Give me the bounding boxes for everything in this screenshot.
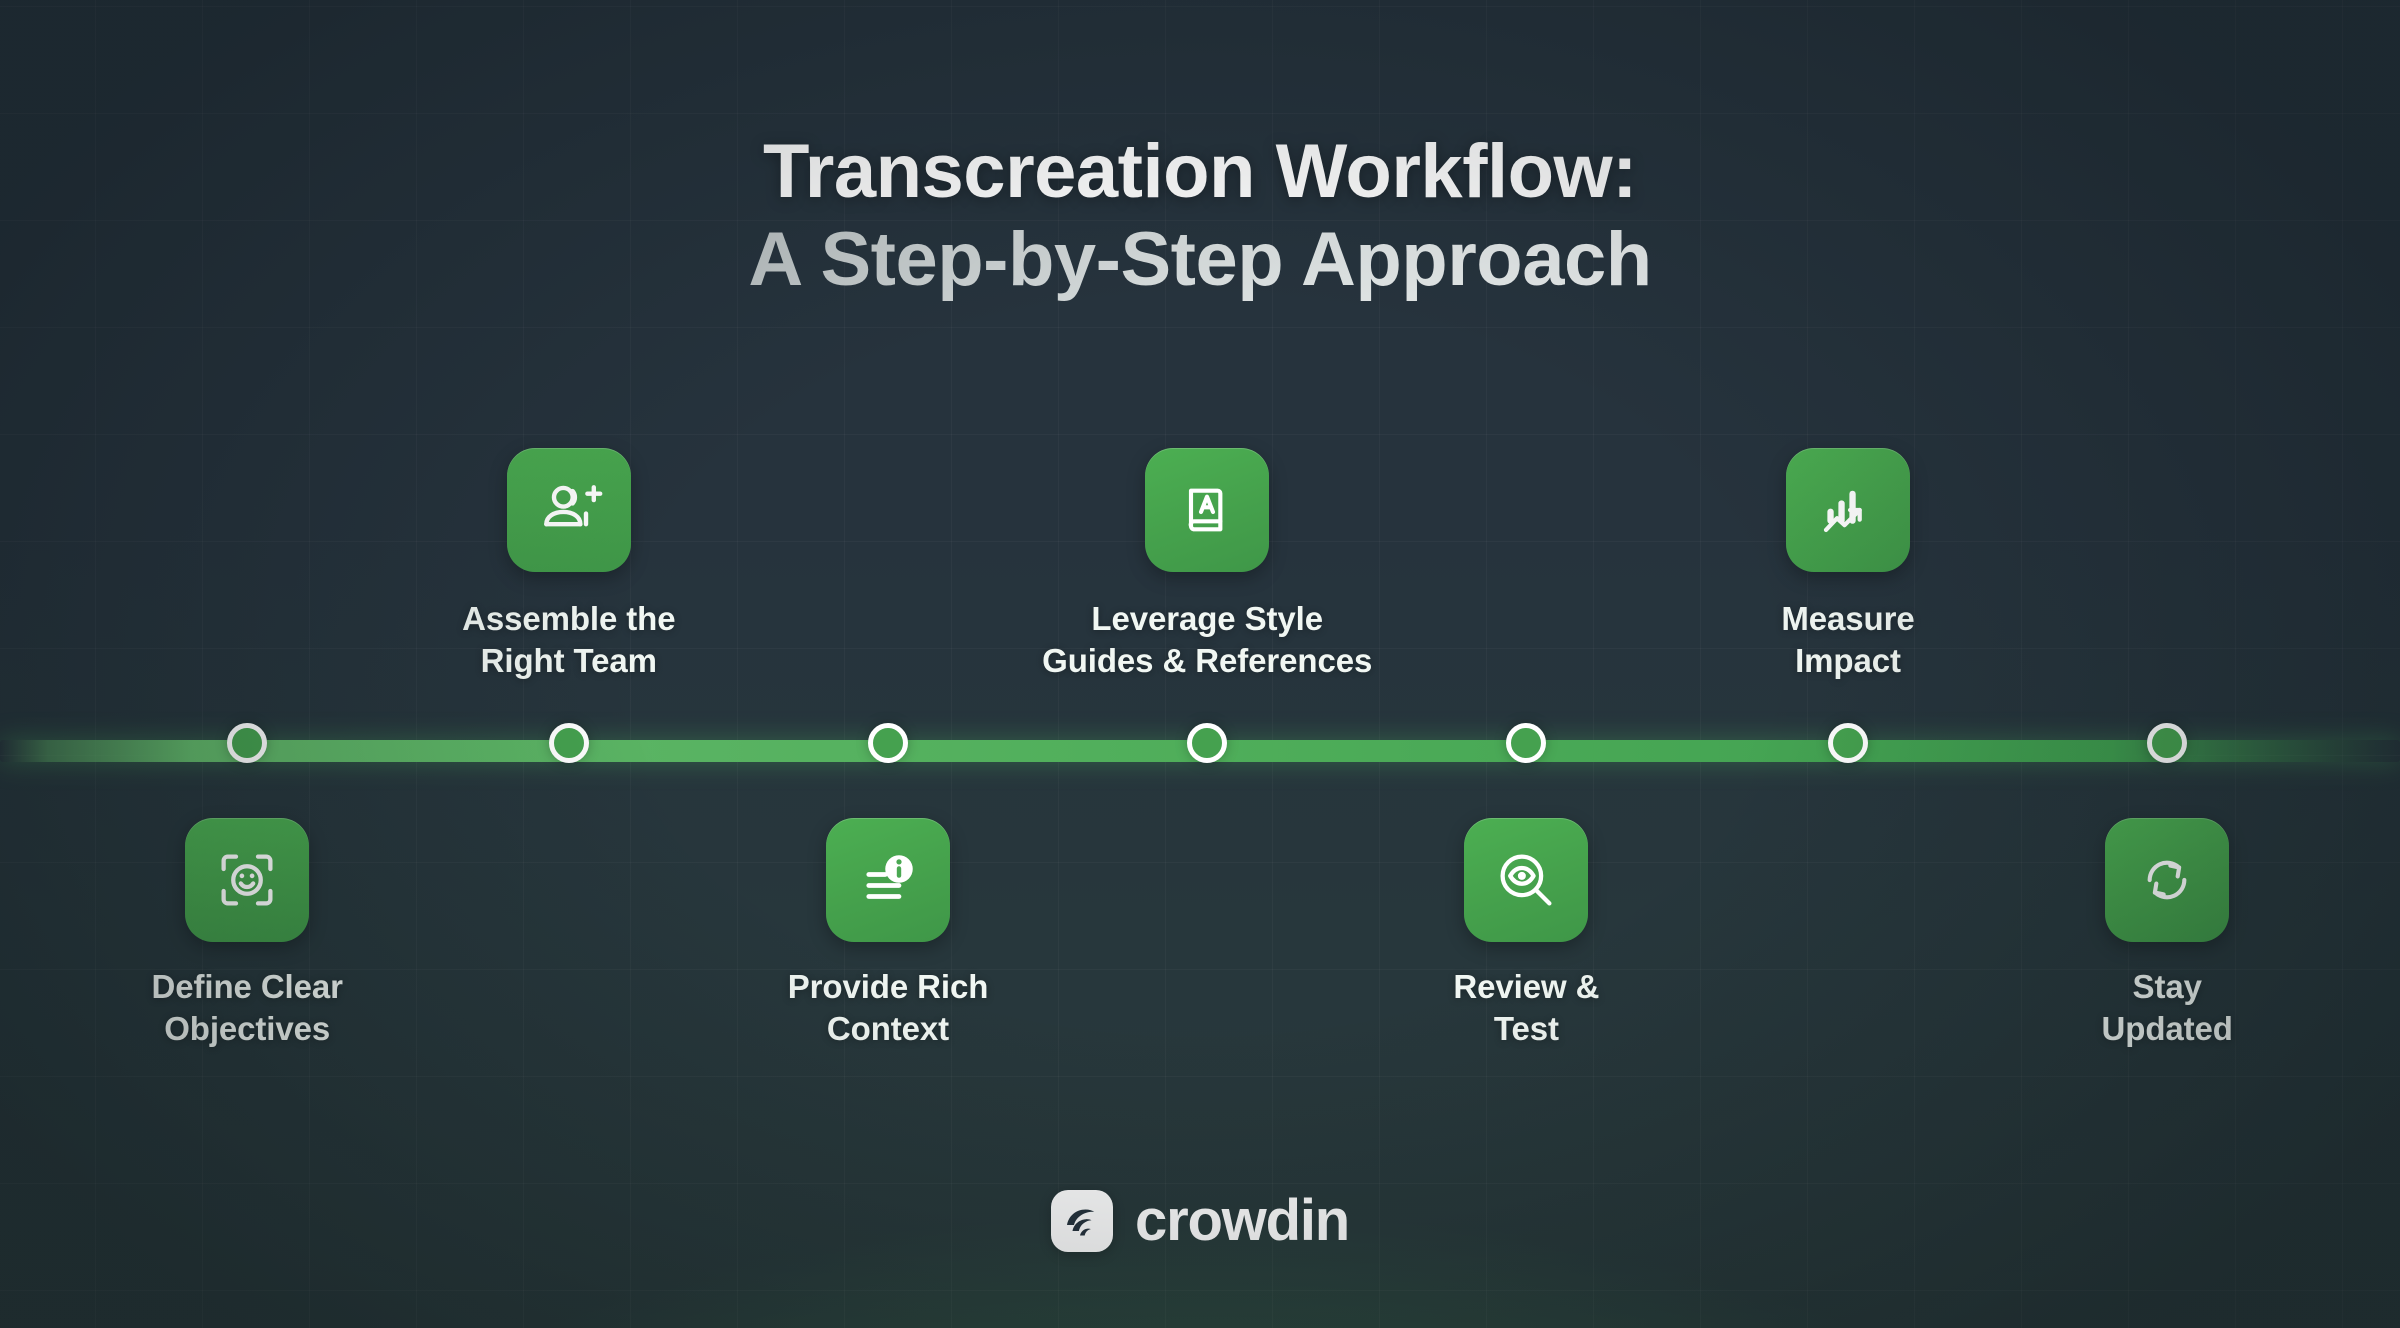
step-label: Leverage Style Guides & References [1017,598,1397,682]
user-plus-icon [507,448,631,572]
step-6[interactable]: Measure Impact [1658,448,2038,682]
infographic-canvas: Transcreation Workflow: A Step-by-Step A… [0,0,2400,1328]
step-7[interactable]: Stay Updated [1977,818,2357,1050]
timeline-dot-6 [1828,723,1868,763]
step-label: Measure Impact [1658,598,2038,682]
bar-chart-arrow-icon [1786,448,1910,572]
crowdin-wing-icon [1051,1190,1113,1252]
step-label: Provide Rich Context [698,966,1078,1050]
magnifier-eye-icon [1464,818,1588,942]
step-1[interactable]: Define Clear Objectives [57,818,437,1050]
timeline-dot-7 [2147,723,2187,763]
timeline-dot-1 [227,723,267,763]
page-title: Transcreation Workflow: A Step-by-Step A… [0,128,2400,304]
step-5[interactable]: Review & Test [1336,818,1716,1050]
crowdin-wordmark: crowdin [1135,1187,1349,1254]
step-label: Stay Updated [1977,966,2357,1050]
step-2[interactable]: Assemble the Right Team [379,448,759,682]
face-scan-icon [185,818,309,942]
step-label: Review & Test [1336,966,1716,1050]
timeline-dot-2 [549,723,589,763]
step-4[interactable]: Leverage Style Guides & References [1017,448,1397,682]
crowdin-logo: crowdin [0,1187,2400,1254]
title-line-secondary: A Step-by-Step Approach [0,216,2400,304]
timeline-dot-3 [868,723,908,763]
step-3[interactable]: Provide Rich Context [698,818,1078,1050]
refresh-cycle-icon [2105,818,2229,942]
step-label: Define Clear Objectives [57,966,437,1050]
document-info-icon [826,818,950,942]
title-line-primary: Transcreation Workflow: [0,128,2400,216]
step-label: Assemble the Right Team [379,598,759,682]
book-letter-a-icon [1145,448,1269,572]
timeline-dot-4 [1187,723,1227,763]
